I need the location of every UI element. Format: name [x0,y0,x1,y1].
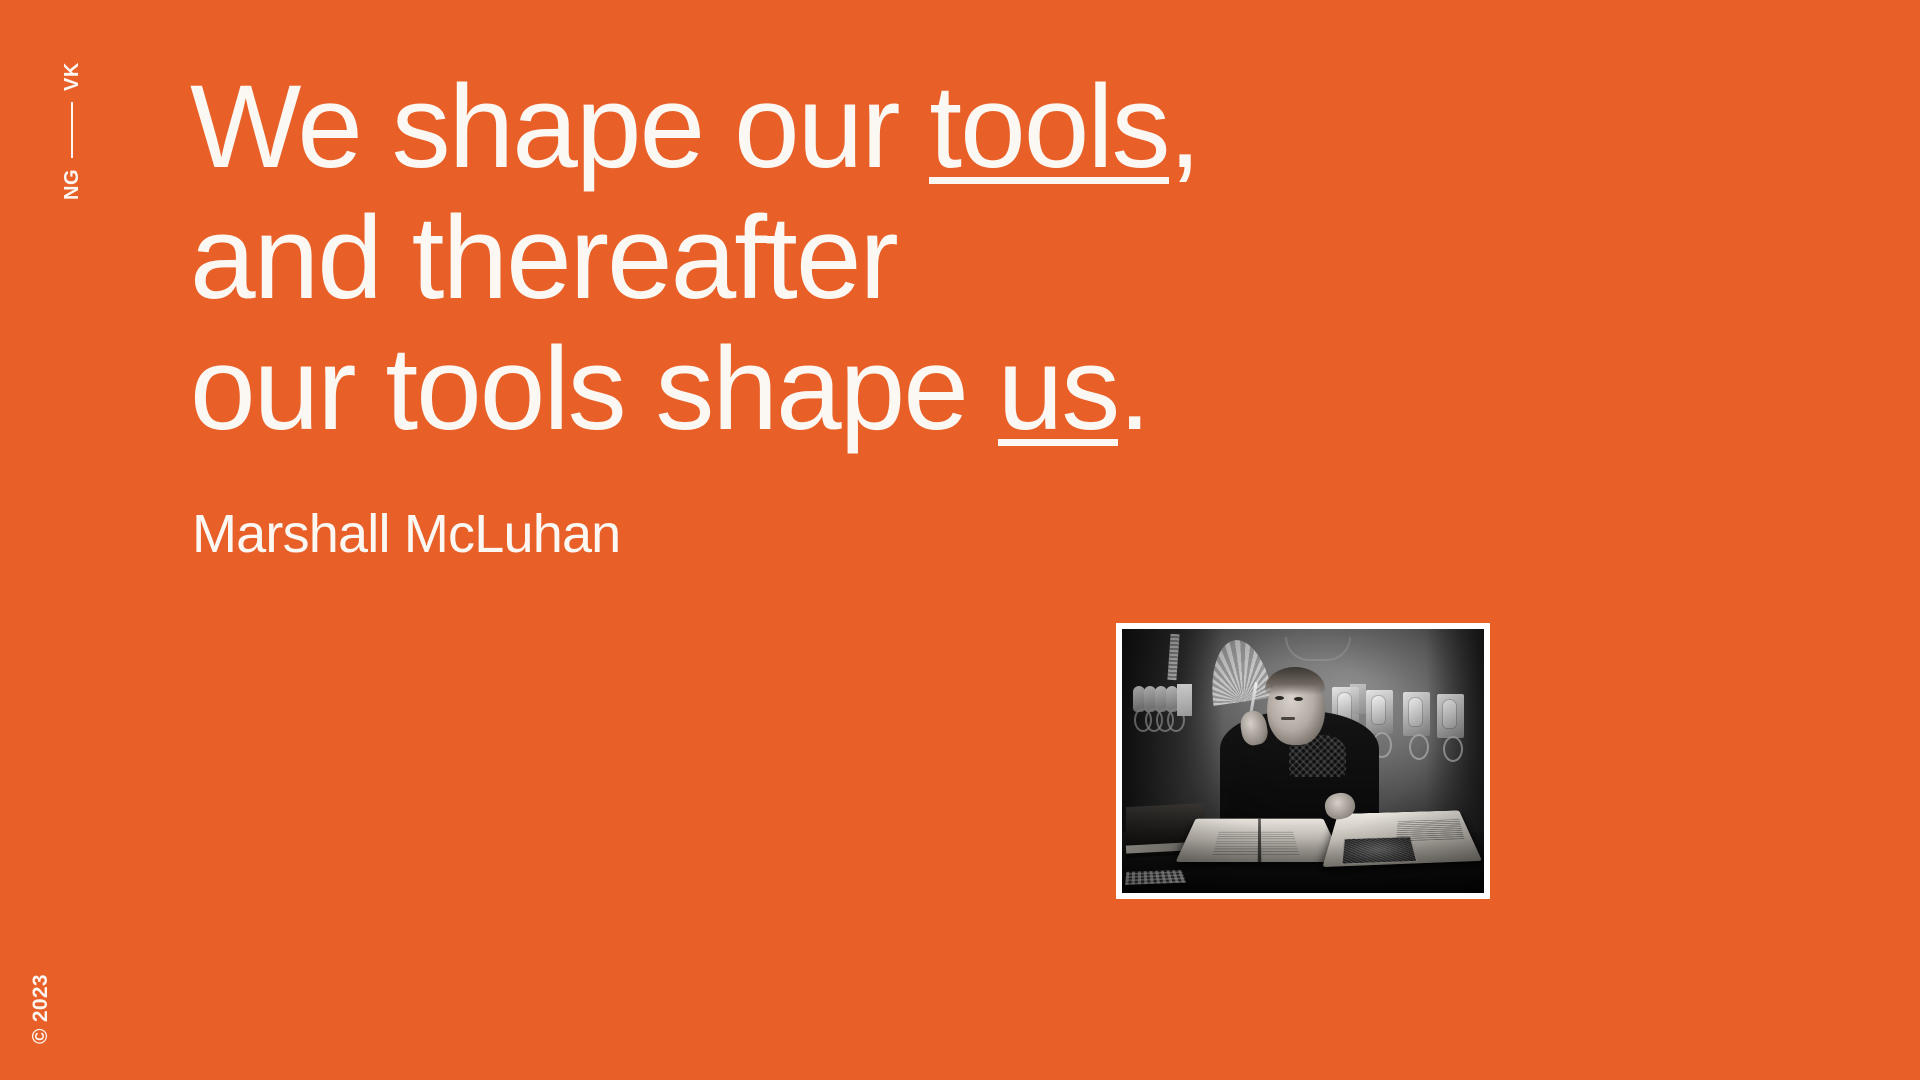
quote-line-1: We shape our tools, [190,62,1490,193]
rail-mark-ng: NG [62,169,82,200]
quote-attribution: Marshall McLuhan [192,503,620,565]
rail-mark-vk: VK [62,62,82,91]
quote-line-3: our tools shape us. [190,324,1490,455]
quote-line-1-tail: , [1169,61,1200,193]
quote-line-3-tail: . [1118,323,1149,455]
photo-vignette [1122,629,1484,893]
quote-emphasis-us: us [998,324,1119,455]
portrait-photo [1122,629,1484,893]
portrait-photo-frame [1116,623,1490,899]
quote-line-1-lead: We shape our [190,61,929,193]
rail-divider-line [71,102,73,158]
quote-line-2: and thereafter [190,193,1490,324]
slide-canvas: NG VK © 2023 We shape our tools, and the… [0,0,1920,1080]
quote-emphasis-tools: tools [929,62,1168,193]
copyright-mark: © 2023 [30,974,52,1044]
quote-line-3-lead: our tools shape [190,323,998,455]
quote-block: We shape our tools, and thereafter our t… [190,62,1490,455]
copyright-text: © 2023 [29,974,52,1044]
corner-mark-top-left: NG VK [0,0,96,230]
